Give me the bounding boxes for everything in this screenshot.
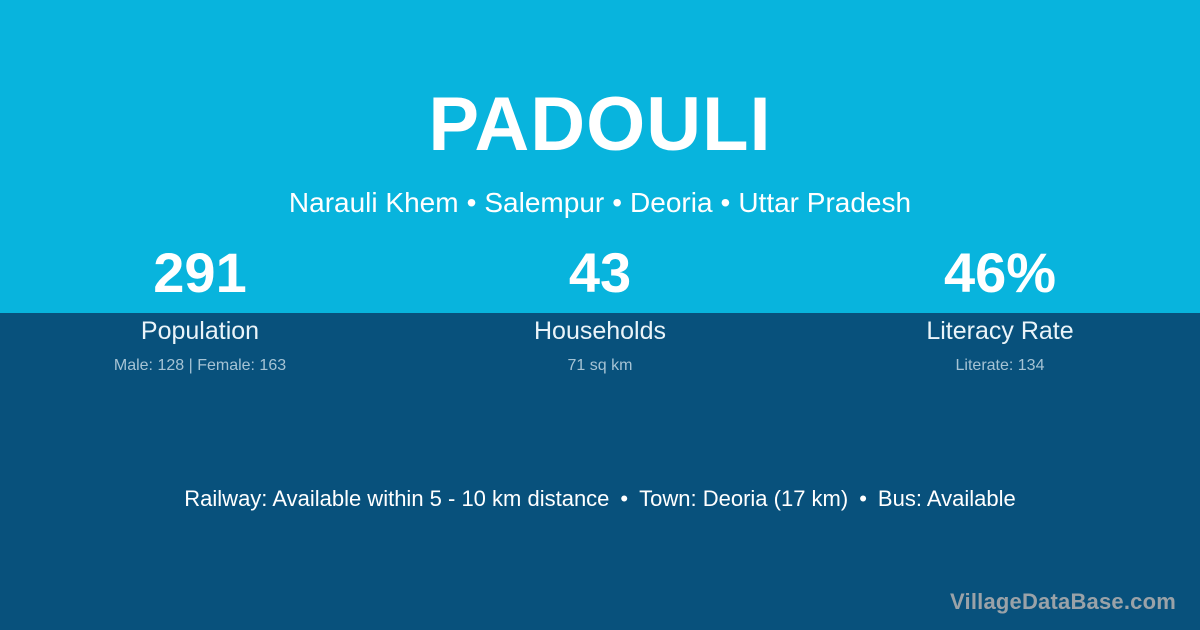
stat-value: 291 [0,240,400,313]
breadcrumb-item-tehsil: Salempur [484,187,604,218]
facilities-line: Railway: Available within 5 - 10 km dist… [0,484,1200,514]
breadcrumb-separator: • [604,186,630,220]
site-watermark: VillageDataBase.com [950,588,1176,616]
stats-row: 291 Population Male: 128 | Female: 163 4… [0,240,1200,376]
stat-sublabel: Literate: 134 [800,347,1200,376]
facility-town: Town: Deoria (17 km) [639,486,848,511]
stat-value: 43 [400,240,800,313]
facility-railway: Railway: Available within 5 - 10 km dist… [184,486,609,511]
stat-sublabel: 71 sq km [400,347,800,376]
village-info-card: PADOULI Narauli Khem•Salempur•Deoria•Utt… [0,0,1200,630]
stat-literacy-rate: 46% Literacy Rate Literate: 134 [800,240,1200,376]
facility-bus: Bus: Available [878,486,1016,511]
stat-label: Population [0,313,400,347]
card-header: PADOULI Narauli Khem•Salempur•Deoria•Utt… [0,0,1200,220]
stat-label: Households [400,313,800,347]
breadcrumb: Narauli Khem•Salempur•Deoria•Uttar Prade… [0,168,1200,220]
facility-separator: • [848,484,878,514]
stat-population: 291 Population Male: 128 | Female: 163 [0,240,400,376]
breadcrumb-item-district: Deoria [630,187,712,218]
breadcrumb-item-block: Narauli Khem [289,187,459,218]
page-title: PADOULI [0,0,1200,168]
breadcrumb-separator: • [459,186,485,220]
stat-households: 43 Households 71 sq km [400,240,800,376]
breadcrumb-item-state: Uttar Pradesh [738,187,911,218]
stat-label: Literacy Rate [800,313,1200,347]
facility-separator: • [609,484,639,514]
stat-value: 46% [800,240,1200,313]
stat-sublabel: Male: 128 | Female: 163 [0,347,400,376]
breadcrumb-separator: • [713,186,739,220]
